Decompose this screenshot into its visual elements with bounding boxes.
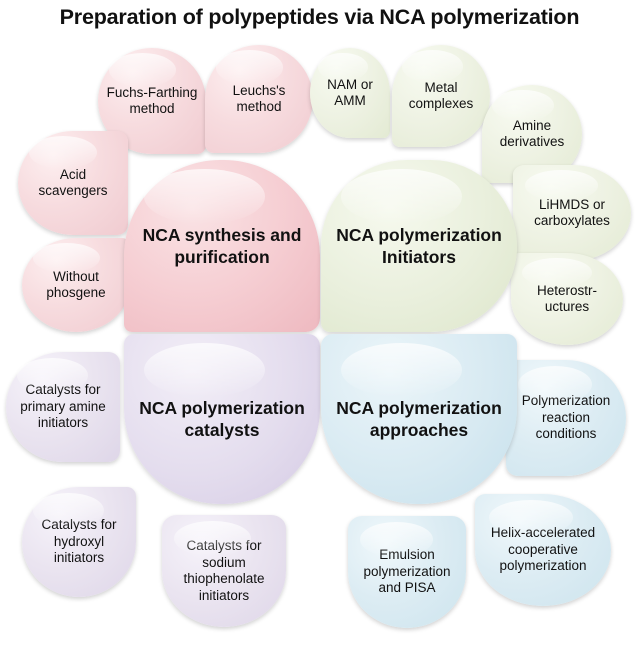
satellite-label: NAM or AMM [316,77,384,110]
bubble-gloss [402,50,463,83]
bubble-gloss [109,53,176,87]
satellite-label: Emulsion polymerization and PISA [354,547,460,597]
bubble-gloss [341,343,463,397]
satellite-label: Leuchs's method [211,83,307,116]
satellite-label: Helix-accelerated cooperative polymeriza… [481,525,605,575]
satellite-nam-or-amm[interactable]: NAM or AMM [310,48,390,138]
satellite-helix-accelerated-cooperative-polymerization[interactable]: Helix-accelerated cooperative polymeriza… [475,494,611,606]
satellite-label: Without phosgene [28,269,124,302]
quadrant-label: NCA synthesis and purification [138,224,306,268]
satellite-polymerization-reaction-conditions[interactable]: Polymerization reaction conditions [506,360,626,476]
satellite-heterostructures[interactable]: Heterostr-uctures [511,253,623,345]
satellite-label: Catalysts for sodium thiophenolate initi… [168,538,280,604]
satellite-catalysts-sodium-thiophenolate-initiators[interactable]: Catalysts for sodium thiophenolate initi… [162,515,286,627]
satellite-emulsion-polymerization-and-pisa[interactable]: Emulsion polymerization and PISA [348,516,466,628]
satellite-catalysts-primary-amine-initiators[interactable]: Catalysts for primary amine initiators [6,352,120,462]
bubble-gloss [216,50,283,85]
satellite-label: Amine derivatives [488,118,576,151]
quadrant-nca-polymerization-approaches[interactable]: NCA polymerization approaches [321,334,517,504]
quadrant-label: NCA polymerization catalysts [138,397,306,441]
satellite-label: LiHMDS or carboxylates [519,197,625,230]
bubble-layer: Fuchs-Farthing method Leuchs's method Ac… [0,0,639,650]
satellite-catalysts-hydroxyl-initiators[interactable]: Catalysts for hydroxyl initiators [22,487,136,597]
bubble-gloss [29,136,97,169]
quadrant-label: NCA polymerization Initiators [335,224,503,268]
satellite-without-phosgene[interactable]: Without phosgene [22,238,130,332]
quadrant-nca-polymerization-catalysts[interactable]: NCA polymerization catalysts [124,334,320,504]
satellite-label: Acid scavengers [24,167,122,200]
bubble-gloss [341,169,463,224]
diagram-canvas: Preparation of polypeptides via NCA poly… [0,0,639,650]
satellite-label: Catalysts for primary amine initiators [12,382,114,432]
quadrant-label: NCA polymerization approaches [335,397,503,441]
bubble-gloss [144,169,266,224]
satellite-metal-complexes[interactable]: Metal complexes [392,45,490,147]
satellite-leuchs-method[interactable]: Leuchs's method [205,45,313,153]
satellite-label: Polymerization reaction conditions [512,393,620,443]
satellite-acid-scavengers[interactable]: Acid scavengers [18,131,128,235]
satellite-label: Metal complexes [398,80,484,113]
quadrant-nca-polymerization-initiators[interactable]: NCA polymerization Initiators [321,160,517,332]
satellite-lihmds-or-carboxylates[interactable]: LiHMDS or carboxylates [513,165,631,261]
quadrant-nca-synthesis-and-purification[interactable]: NCA synthesis and purification [124,160,320,332]
satellite-label: Heterostr-uctures [517,283,617,316]
satellite-label: Fuchs-Farthing method [104,85,200,118]
satellite-label: Catalysts for hydroxyl initiators [28,517,130,567]
bubble-gloss [144,343,266,397]
